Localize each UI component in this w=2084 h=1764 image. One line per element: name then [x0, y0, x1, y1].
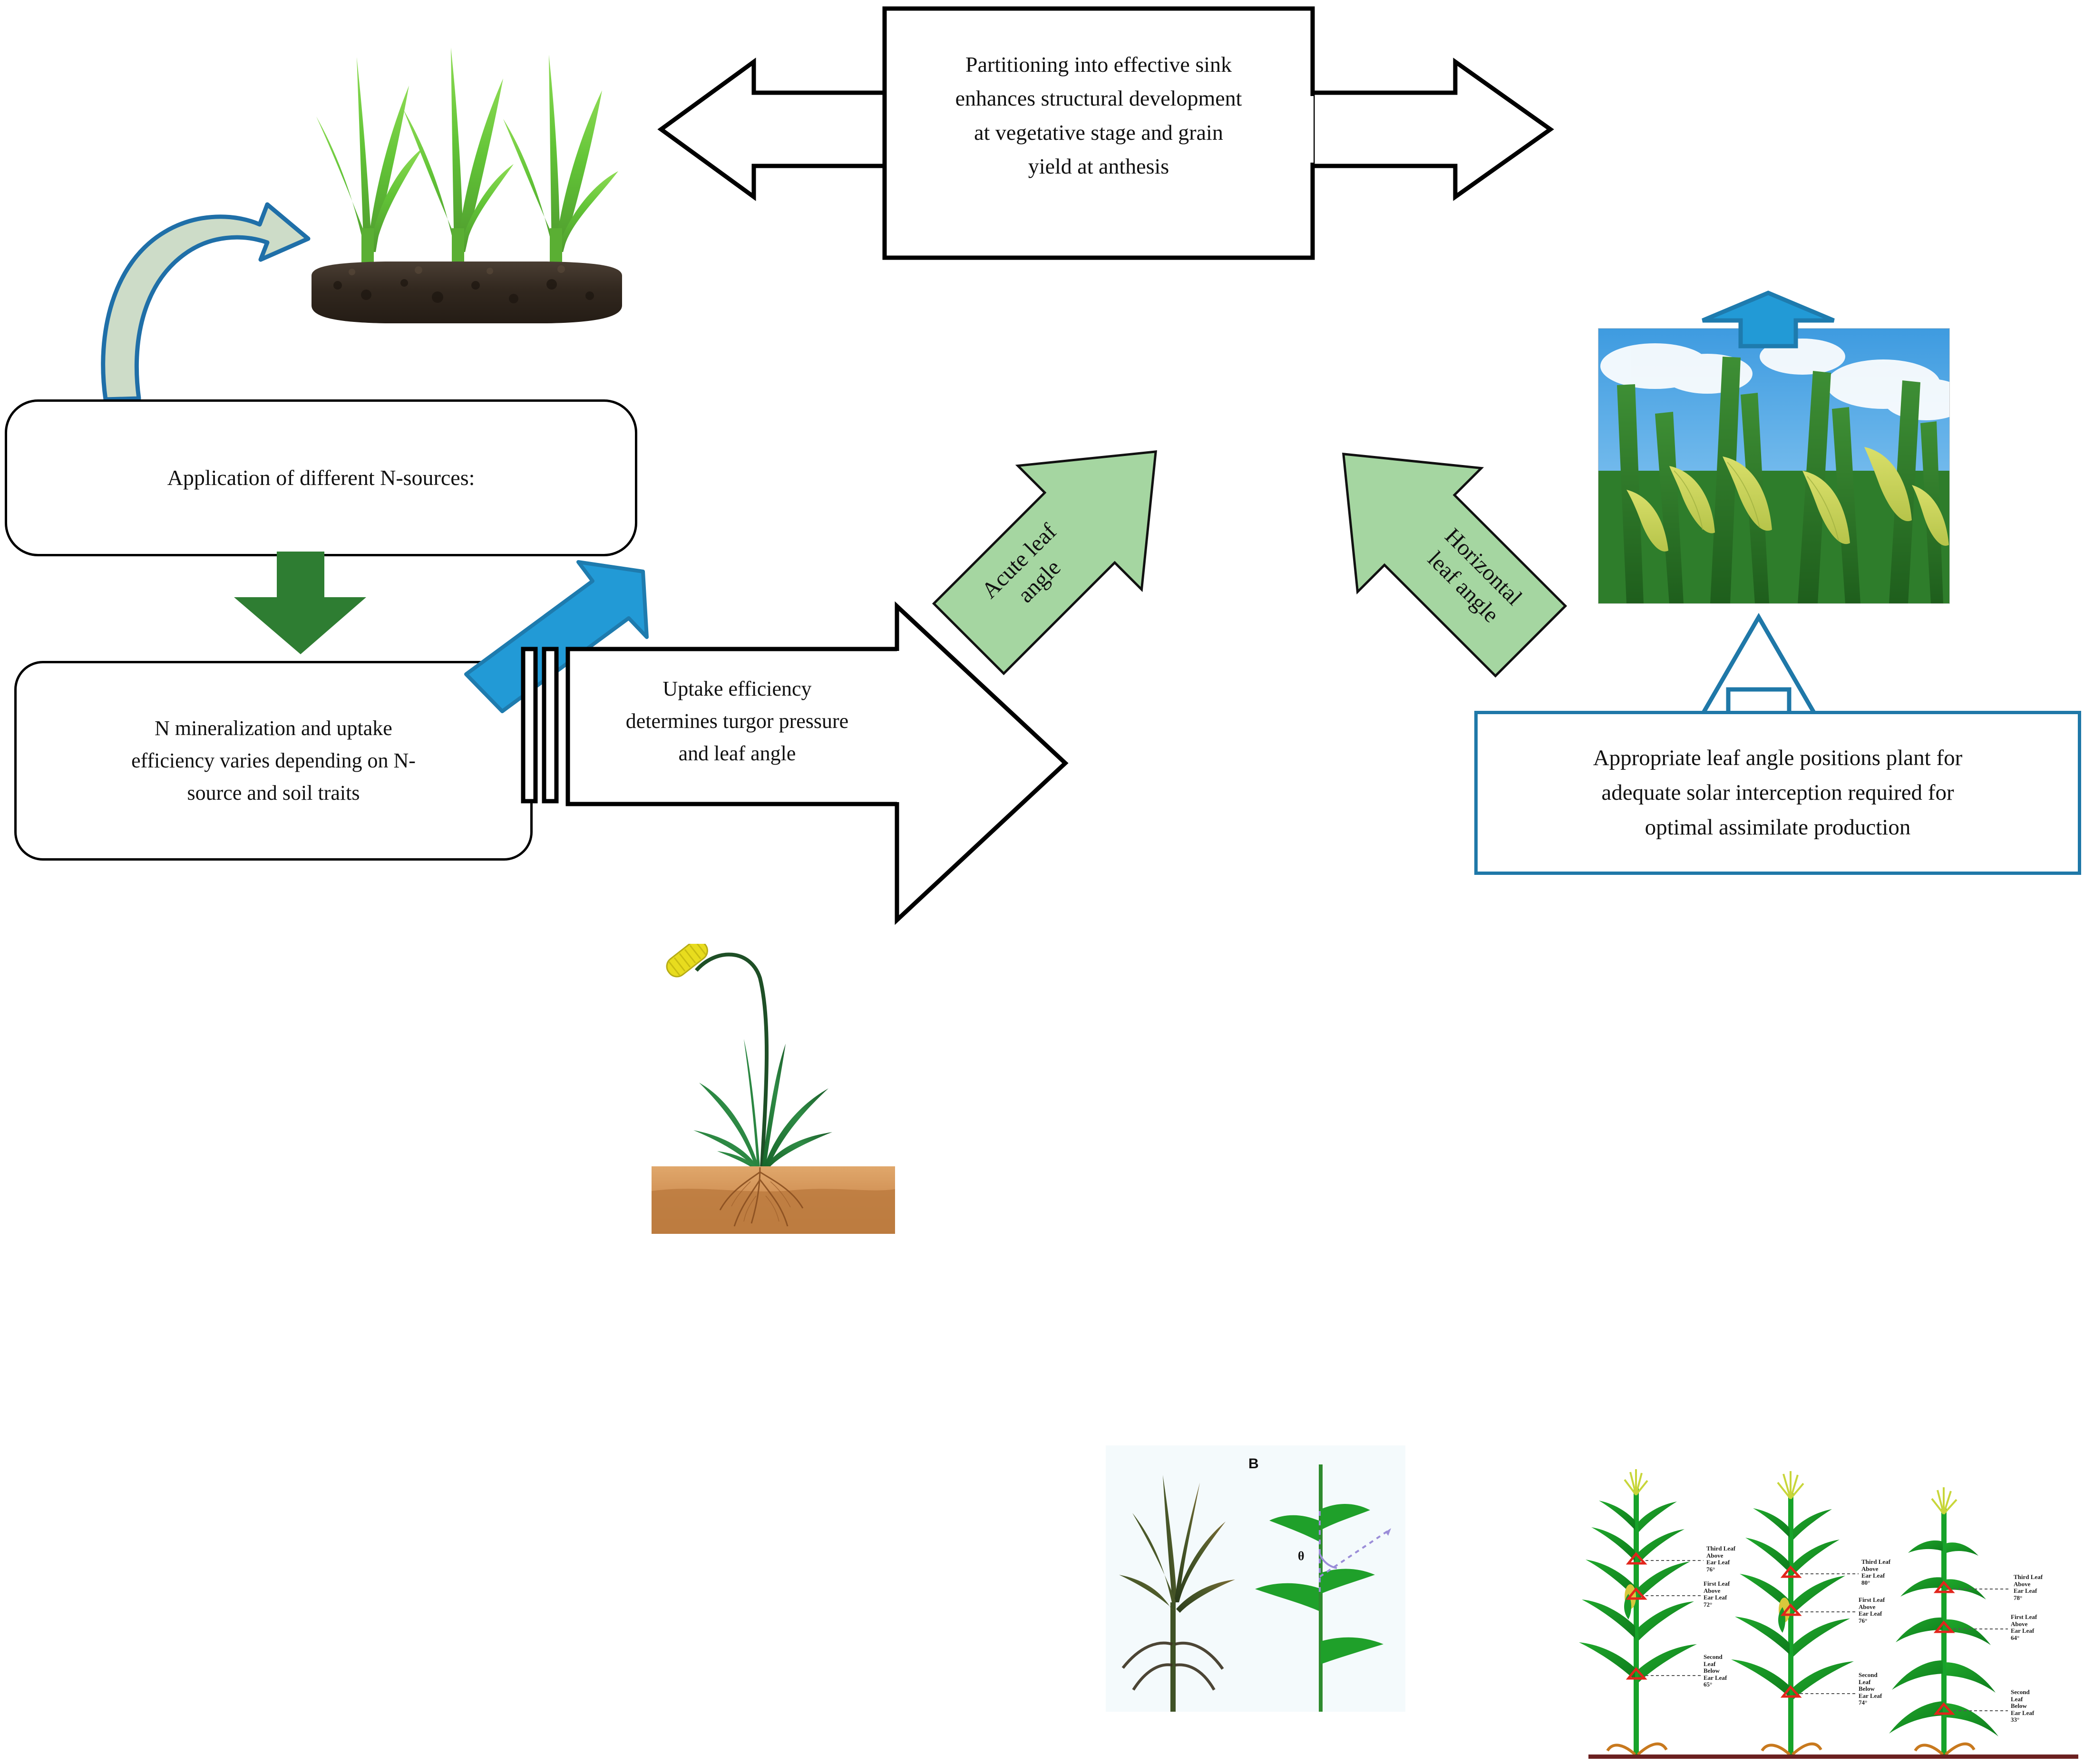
n-sources-box[interactable]: Application of different N-sources:: [5, 399, 637, 556]
maize-note-p1-third: Third Leaf Above Ear Leaf 76°: [1706, 1545, 1763, 1573]
green-down-arrow: [224, 552, 376, 666]
recycle-curved-arrow: [86, 176, 352, 423]
n-mineralization-text: N mineralization and uptake efficiency v…: [109, 712, 438, 810]
figure-canvas: Partitioning into effective sink enhance…: [0, 0, 2084, 898]
solar-interception-text: Appropriate leaf angle positions plant f…: [1593, 741, 1963, 845]
top-flow-arrow-box: Partitioning into effective sink enhance…: [656, 5, 1598, 262]
uptake-efficiency-text: Uptake efficiency determines turgor pres…: [585, 673, 889, 770]
horizontal-leaf-angle-arrow: Horizontal leaf angle: [1278, 389, 1595, 705]
rice-field-photo: [1598, 328, 1950, 604]
leaf-angle-panel-b: B θ: [1106, 1445, 1405, 1712]
blue-up-arrow-filled: [1698, 290, 1841, 357]
theta-angle-label: θ: [1298, 1549, 1305, 1563]
panel-b-label: B: [1248, 1456, 1259, 1472]
maize-note-p2-first: First Leaf Above Ear Leaf 76°: [1859, 1597, 1916, 1624]
top-flow-text: Partitioning into effective sink enhance…: [894, 48, 1303, 183]
n-sources-text: Application of different N-sources:: [167, 461, 475, 494]
maize-leaf-angle-schematic: Third Leaf Above Ear Leaf 76° First Leaf…: [1579, 1469, 2084, 1764]
maize-note-p2-third: Third Leaf Above Ear Leaf 80°: [1861, 1559, 1918, 1586]
maize-note-p2-second: Second Leaf Below Ear Leaf 74°: [1859, 1672, 1911, 1706]
n-mineralization-box[interactable]: N mineralization and uptake efficiency v…: [14, 661, 533, 861]
maize-note-p1-second: Second Leaf Below Ear Leaf 65°: [1704, 1654, 1756, 1688]
maize-note-p3-third: Third Leaf Above Ear Leaf 78°: [2014, 1574, 2071, 1601]
single-plant-illustration: [633, 944, 913, 1234]
uptake-efficiency-arrow-box: Uptake efficiency determines turgor pres…: [518, 644, 1080, 896]
solar-interception-box[interactable]: Appropriate leaf angle positions plant f…: [1474, 711, 2081, 875]
maize-note-p3-second: Second Leaf Below Ear Leaf 33°: [2011, 1689, 2063, 1724]
maize-note-p3-first: First Leaf Above Ear Leaf 64°: [2011, 1614, 2068, 1641]
maize-note-p1-first: First Leaf Above Ear Leaf 72°: [1704, 1580, 1761, 1608]
